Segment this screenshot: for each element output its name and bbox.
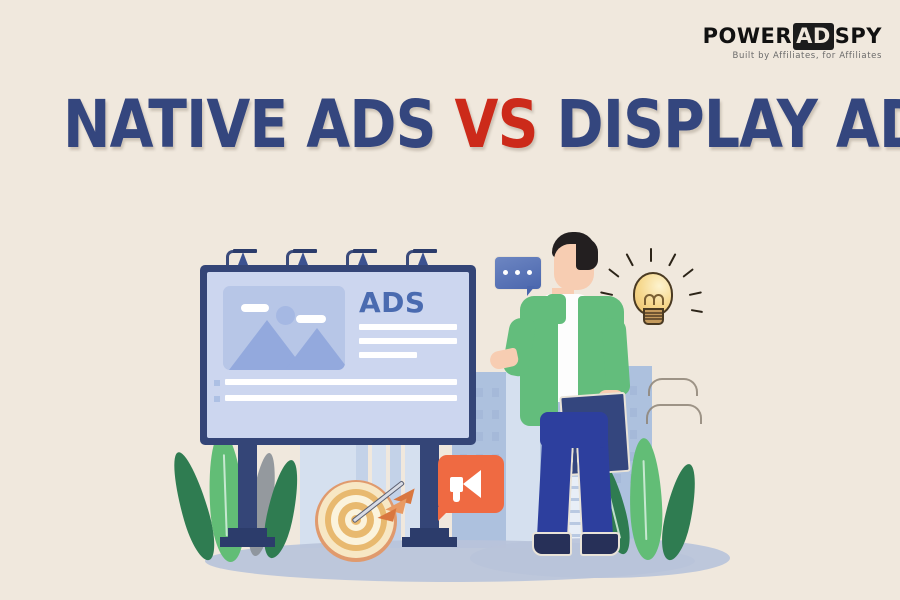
billboard: ADS xyxy=(200,265,476,445)
billboard-text-line xyxy=(359,324,457,330)
character-illustration xyxy=(500,232,660,572)
character-shoe-left xyxy=(532,532,572,556)
character-hair-back xyxy=(576,238,598,270)
mountain-shape xyxy=(285,328,345,370)
billboard-base xyxy=(410,528,449,537)
billboard-heading: ADS xyxy=(359,286,426,319)
character-hips xyxy=(540,412,608,448)
megaphone-badge xyxy=(438,455,504,513)
character-shoe-right xyxy=(580,532,620,556)
illustration-scene: ADS xyxy=(0,0,900,600)
billboard-bullet xyxy=(214,380,220,386)
character-arm-right xyxy=(601,317,630,396)
billboard-base xyxy=(220,537,275,547)
megaphone-icon xyxy=(463,470,481,498)
billboard-screen: ADS xyxy=(207,272,469,438)
poster-canvas: POWERADSPY Built by Affiliates, for Affi… xyxy=(0,0,900,600)
billboard-base xyxy=(402,537,457,547)
billboard-footer-line xyxy=(225,379,457,385)
billboard-image-placeholder xyxy=(223,286,345,370)
billboard-bullet xyxy=(214,396,220,402)
cloud-shape xyxy=(241,304,269,312)
billboard-base xyxy=(228,528,267,537)
billboard-text-line xyxy=(359,352,417,358)
megaphone-stem xyxy=(453,490,460,502)
billboard-text-line xyxy=(359,338,457,344)
billboard-footer-line xyxy=(225,395,457,401)
character-collar xyxy=(546,294,566,324)
